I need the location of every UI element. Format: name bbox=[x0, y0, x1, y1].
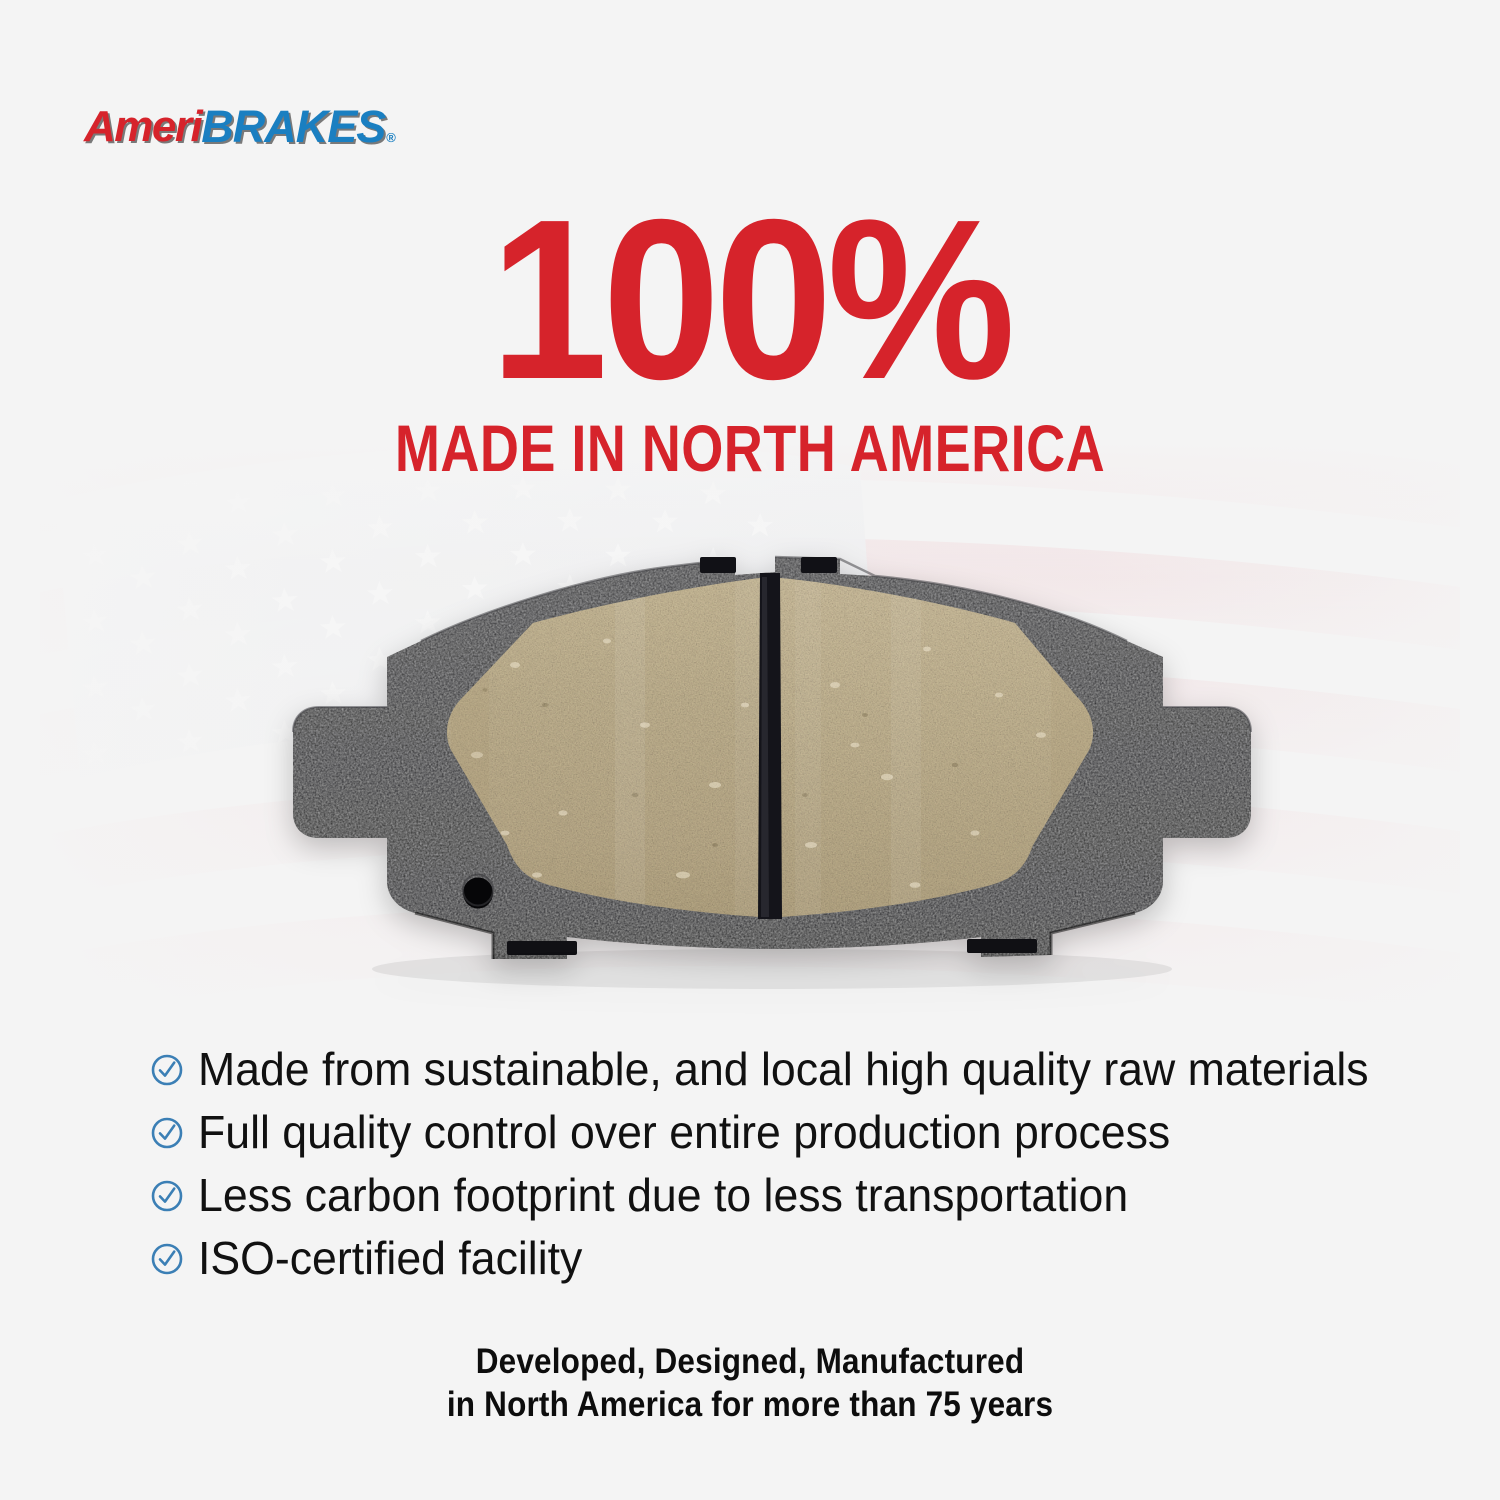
feature-label: ISO-certified facility bbox=[198, 1235, 582, 1281]
headline-percent: 100% bbox=[53, 200, 1448, 401]
logo-text-ameri: Ameri bbox=[84, 105, 201, 149]
footer-line-1: Developed, Designed, Manufactured bbox=[75, 1341, 1425, 1384]
headline-block: 100% MADE IN NORTH AMERICA bbox=[0, 200, 1500, 481]
check-circle-icon bbox=[150, 1053, 184, 1087]
brake-pad-product-image bbox=[215, 545, 1320, 1005]
logo-text-brakes: BRAKES bbox=[201, 104, 385, 149]
feature-label: Less carbon footprint due to less transp… bbox=[198, 1172, 1128, 1218]
feature-item-1: Made from sustainable, and local high qu… bbox=[150, 1037, 1390, 1100]
check-circle-icon bbox=[150, 1116, 184, 1150]
headline-subtitle: MADE IN NORTH AMERICA bbox=[135, 415, 1365, 481]
center-slot-groove bbox=[758, 573, 782, 919]
feature-label: Made from sustainable, and local high qu… bbox=[198, 1046, 1369, 1092]
brand-logo[interactable]: Ameri BRAKES ® bbox=[84, 104, 396, 149]
feature-list: Made from sustainable, and local high qu… bbox=[150, 1037, 1390, 1289]
footer-line-2: in North America for more than 75 years bbox=[75, 1384, 1425, 1427]
feature-label: Full quality control over entire product… bbox=[198, 1109, 1170, 1155]
feature-item-2: Full quality control over entire product… bbox=[150, 1100, 1390, 1163]
footer-block: Developed, Designed, Manufactured in Nor… bbox=[0, 1341, 1500, 1426]
registered-trademark-icon: ® bbox=[386, 131, 396, 144]
mounting-hole bbox=[463, 875, 493, 909]
check-circle-icon bbox=[150, 1242, 184, 1276]
feature-item-4: ISO-certified facility bbox=[150, 1226, 1390, 1289]
feature-item-3: Less carbon footprint due to less transp… bbox=[150, 1163, 1390, 1226]
check-circle-icon bbox=[150, 1179, 184, 1213]
top-notch-tabs bbox=[700, 557, 837, 573]
